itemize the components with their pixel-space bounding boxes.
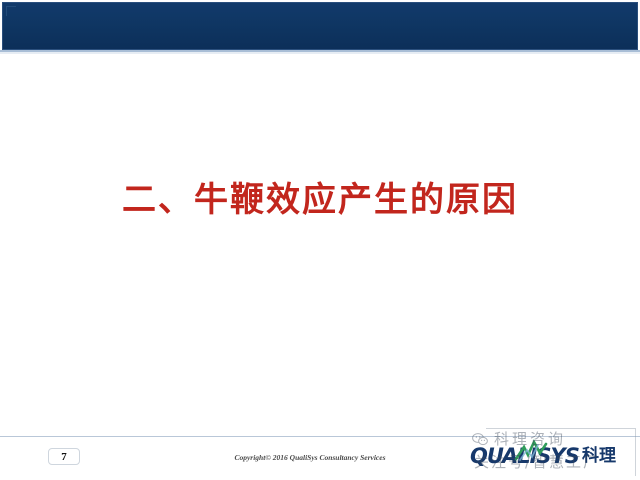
slide-header-band: [2, 2, 638, 50]
section-heading: 二、牛鞭效应产生的原因: [0, 178, 640, 222]
presentation-slide: 二、牛鞭效应产生的原因 7 Copyright© 2016 QualiSys C…: [0, 0, 640, 480]
logo-chinese-name: 科理: [582, 445, 616, 467]
logo-swoosh-icon: [514, 439, 554, 463]
footer-divider: [0, 436, 640, 437]
slide-body: 二、牛鞭效应产生的原因: [0, 54, 640, 434]
qualisys-logo: QUALISYS 科理: [470, 443, 630, 473]
header-band-corner-accent: [6, 6, 16, 16]
copyright-text: Copyright© 2016 QualiSys Consultancy Ser…: [150, 452, 470, 463]
page-number-badge: 7: [48, 448, 80, 465]
